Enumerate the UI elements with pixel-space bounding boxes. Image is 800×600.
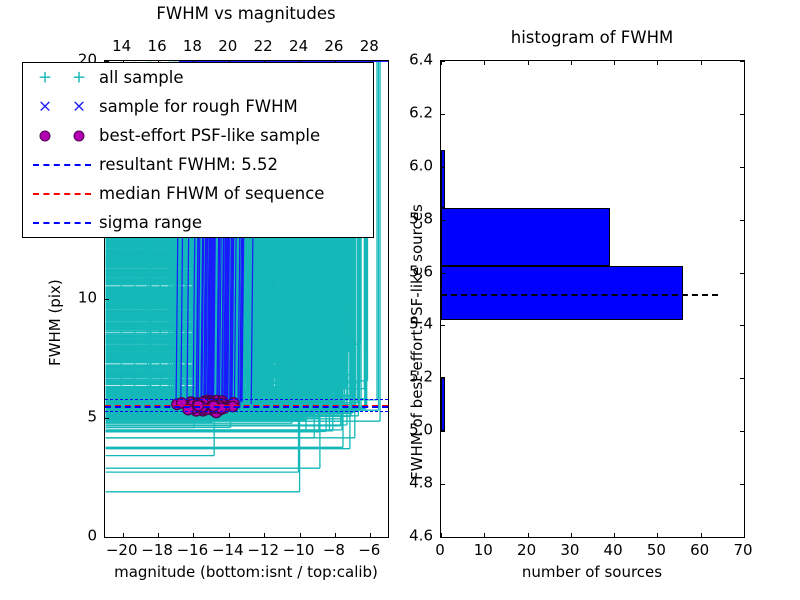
histogram-y-tick [441,61,445,62]
histogram-data-area [441,61,744,537]
scatter-y-tick-label: 5 [87,410,97,425]
scatter-x-tick [335,533,336,537]
scatter-x-tick-label: −20 [106,543,138,558]
histogram-axes[interactable] [440,60,745,538]
scatter-y-tick-label: 10 [78,291,97,306]
histogram-x-tick-label: 50 [647,543,666,558]
scatter-y-tick [105,537,109,538]
histogram-x-tick [701,61,702,65]
legend-entry[interactable]: best-effort PSF-like sample [23,121,373,150]
histogram-x-tick [657,61,658,65]
x-marker-icon: × [38,98,52,115]
sigma-range-lower-line [105,411,388,412]
sigma-range-upper-line [105,399,388,400]
resultant-fwhm-line [105,406,388,408]
histogram-y-tick [740,378,744,379]
histogram-x-tick-label: 0 [435,543,445,558]
scatter-x-top-tick-label: 20 [218,39,237,54]
legend-entry-label: all sample [99,68,184,87]
scatter-y-axis-label: FWHM (pix) [46,279,64,366]
histogram-y-tick [740,431,744,432]
legend-marker-dashed-blue-icon [23,150,99,179]
line-marker-icon [33,222,91,224]
scatter-x-tick-label: −10 [283,543,315,558]
legend-entry-label: sample for rough FWHM [99,97,298,116]
histogram-y-tick-label: 6.0 [409,158,433,173]
scatter-x-tick-label: −8 [323,543,345,558]
scatter-x-tick [193,533,194,537]
scatter-x-tick-label: −14 [212,543,244,558]
legend-entry-label: sigma range [99,213,202,232]
histogram-x-tick-label: 60 [690,543,709,558]
line-marker-icon [33,164,91,166]
legend-entry[interactable]: resultant FWHM: 5.52 [23,150,373,179]
circle-marker-icon [40,130,51,141]
histogram-y-axis-label: FWHM of best-effort PSF-like sources [408,204,426,480]
circle-marker-icon [74,130,85,141]
scatter-x-tick-label: −6 [358,543,380,558]
histogram-x-tick [528,533,529,537]
histogram-y-tick [441,114,445,115]
legend-marker-plus-icon: ++ [23,63,99,92]
legend-entry-label: resultant FWHM: 5.52 [99,155,278,174]
scatter-x-top-tick-label: 24 [289,39,308,54]
legend-entry-label: best-effort PSF-like sample [99,126,320,145]
histogram-y-tick [740,114,744,115]
legend-entry[interactable]: ++all sample [23,63,373,92]
histogram-y-tick [441,378,445,379]
histogram-x-tick [744,61,745,65]
scatter-x-tick [300,533,301,537]
histogram-resultant-fwhm-line [441,294,718,296]
histogram-x-tick [571,533,572,537]
histogram-x-tick [484,533,485,537]
legend-marker-ex-icon: ×× [23,92,99,121]
plus-marker-icon: + [38,69,52,86]
x-marker-icon: × [72,98,86,115]
histogram-y-tick [441,325,445,326]
histogram-x-tick [484,61,485,65]
histogram-x-tick [528,61,529,65]
histogram-x-tick [744,533,745,537]
scatter-x-top-tick-label: 18 [183,39,202,54]
histogram-x-tick [571,61,572,65]
histogram-y-tick [740,220,744,221]
histogram-y-tick [740,325,744,326]
legend-box[interactable]: ++all sample××sample for rough FWHMbest-… [22,62,374,238]
histogram-x-tick [614,61,615,65]
plus-marker-icon: + [72,69,86,86]
scatter-plot-title: FWHM vs magnitudes [156,4,335,23]
legend-marker-dashdot-blue-icon [23,208,99,237]
legend-entry-label: median FHWM of sequence [99,184,324,203]
scatter-x-top-tick-label: 14 [112,39,131,54]
line-marker-icon [33,193,91,195]
histogram-y-tick [441,484,445,485]
histogram-x-tick-label: 40 [604,543,623,558]
scatter-x-tick-label: −18 [141,543,173,558]
scatter-x-top-tick-label: 28 [360,39,379,54]
histogram-y-tick [740,167,744,168]
histogram-y-tick [740,273,744,274]
scatter-x-tick [229,533,230,537]
scatter-x-top-tick-label: 22 [254,39,273,54]
histogram-y-tick-label: 6.2 [409,105,433,120]
legend-marker-dot-icon [23,121,99,150]
scatter-x-tick-label: −12 [247,543,279,558]
histogram-y-tick [441,537,445,538]
histogram-bar[interactable] [441,377,445,431]
scatter-y-tick [105,299,109,300]
scatter-x-axis-label: magnitude (bottom:isnt / top:calib) [114,563,378,581]
scatter-y-tick-label: 0 [87,529,97,544]
scatter-y-tick [105,418,109,419]
figure-canvas: −2014−1816−1618−1420−1222−1024−826−62805… [0,0,800,600]
histogram-y-tick [740,537,744,538]
scatter-x-tick-label: −16 [177,543,209,558]
histogram-x-tick [701,533,702,537]
scatter-x-tick [123,533,124,537]
histogram-x-tick [657,533,658,537]
histogram-y-tick-label: 6.4 [409,53,433,68]
legend-entry[interactable]: ××sample for rough FWHM [23,92,373,121]
histogram-x-tick [614,533,615,537]
legend-entry[interactable]: median FHWM of sequence [23,179,373,208]
histogram-x-tick-label: 70 [733,543,752,558]
histogram-x-tick-label: 10 [474,543,493,558]
histogram-x-tick-label: 30 [560,543,579,558]
histogram-y-tick-label: 4.6 [409,529,433,544]
histogram-bar[interactable] [441,208,610,266]
scatter-x-tick [370,533,371,537]
histogram-title: histogram of FWHM [511,28,674,47]
scatter-x-tick [264,533,265,537]
scatter-x-tick [158,533,159,537]
histogram-y-tick [441,273,445,274]
histogram-bar[interactable] [441,150,445,208]
histogram-y-tick [441,431,445,432]
histogram-x-axis-label: number of sources [522,563,662,581]
histogram-x-tick-label: 20 [517,543,536,558]
histogram-y-tick [740,61,744,62]
scatter-x-top-tick-label: 26 [324,39,343,54]
histogram-y-tick [740,484,744,485]
scatter-x-top-tick-label: 16 [148,39,167,54]
legend-marker-dashed-red-icon [23,179,99,208]
histogram-y-tick [441,220,445,221]
histogram-y-tick [441,167,445,168]
legend-entry[interactable]: sigma range [23,208,373,237]
